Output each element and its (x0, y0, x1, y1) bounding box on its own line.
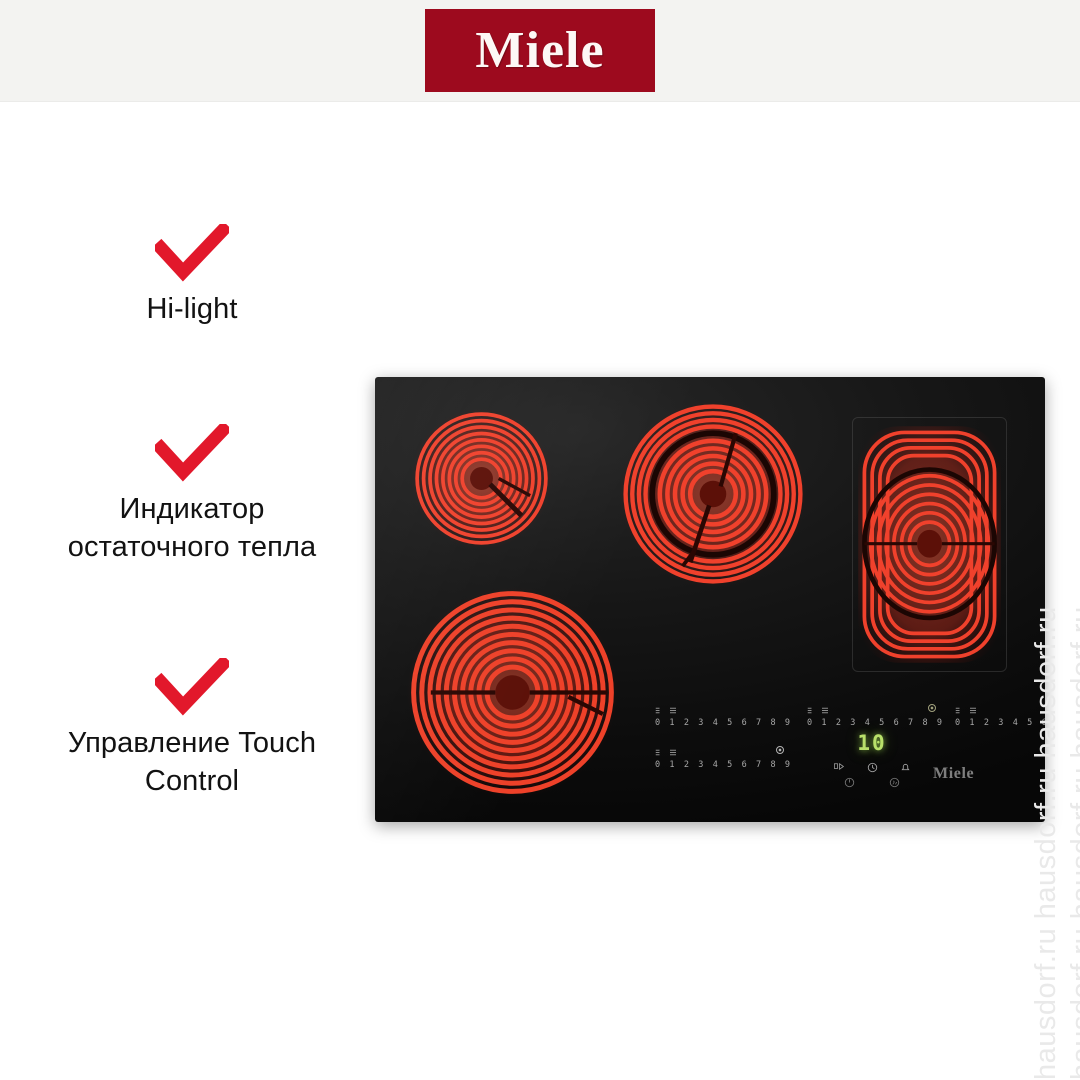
heat-level-icon (968, 706, 978, 715)
slider-icon-group (655, 747, 785, 758)
cooking-zone-top-center[interactable] (618, 399, 808, 589)
miele-logo-text: Miele (475, 25, 604, 77)
check-icon (155, 224, 229, 284)
check-icon-wrap (27, 218, 357, 290)
slider-scale[interactable]: 0 1 2 3 4 5 6 7 8 9 (807, 719, 937, 728)
top-banner: Miele (0, 0, 1080, 102)
stop-and-go-icon[interactable] (834, 762, 845, 771)
alarm-bell-icon[interactable] (900, 762, 911, 773)
zone-indicator-icon (655, 748, 664, 757)
miele-logo: Miele (425, 9, 655, 92)
heat-level-icon (668, 706, 678, 715)
power-icon[interactable] (844, 777, 855, 788)
zone-indicator-icon (655, 706, 664, 715)
slider-icon-group (807, 705, 937, 716)
feature-item-touch-control: Управление Touch Control (27, 652, 357, 801)
booster-icon[interactable] (775, 745, 785, 755)
slider-scale[interactable]: 0 1 2 3 4 5 6 7 8 9 (655, 719, 785, 728)
timer-icon[interactable] (867, 762, 878, 773)
slider-rear-center[interactable]: 0 1 2 3 4 5 6 7 8 9 (807, 705, 937, 728)
slider-scale[interactable]: 0 1 2 3 4 5 6 7 8 9 (655, 761, 785, 770)
display-icon-row (807, 762, 937, 773)
check-icon-wrap (27, 652, 357, 724)
ceramic-cooktop: 0 1 2 3 4 5 6 7 8 9 0 1 2 3 4 5 6 7 8 9 (375, 377, 1045, 822)
slider-scale[interactable]: 0 1 2 3 4 5 6 7 8 9 (955, 719, 1045, 728)
slider-front-left[interactable]: 0 1 2 3 4 5 6 7 8 9 (655, 747, 785, 770)
keep-warm-icon[interactable] (889, 777, 900, 788)
check-icon-wrap (27, 418, 357, 490)
cooking-zone-bottom-left[interactable] (405, 585, 620, 800)
feature-item-hi-light: Hi-light (27, 218, 357, 328)
check-icon (155, 424, 229, 484)
display-value: 10 (807, 733, 937, 754)
feature-label: Hi-light (27, 290, 357, 328)
slider-rear-left[interactable]: 0 1 2 3 4 5 6 7 8 9 (655, 705, 785, 728)
feature-label: Управление Touch Control (27, 724, 357, 801)
heat-level-icon (668, 748, 678, 757)
slider-icon-group (655, 705, 785, 716)
check-icon (155, 658, 229, 718)
secondary-icon-row (807, 777, 937, 788)
touch-control-panel[interactable]: 0 1 2 3 4 5 6 7 8 9 0 1 2 3 4 5 6 7 8 9 (655, 695, 1035, 805)
cooktop-brand-label: Miele (933, 765, 974, 783)
slider-icon-group (955, 705, 1045, 716)
watermark-text: hausdorf.ru hausdorf.ru hausdorf.ru (1066, 606, 1080, 1080)
heating-element-oval (852, 417, 1007, 672)
zone-indicator-icon (807, 706, 816, 715)
heat-level-icon (820, 706, 830, 715)
feature-label: Индикатор остаточного тепла (27, 490, 357, 567)
cooking-zone-right-extension[interactable] (852, 417, 1007, 672)
heating-element-spiral-large (405, 585, 620, 800)
booster-icon[interactable] (927, 703, 937, 713)
digital-display: 10 (807, 733, 937, 773)
heating-element-spiral (410, 407, 553, 550)
zone-indicator-icon (955, 706, 964, 715)
heating-element-dual-spiral (618, 399, 808, 589)
slider-rear-right[interactable]: 0 1 2 3 4 5 6 7 8 9 (955, 705, 1045, 728)
cooking-zone-top-left[interactable] (410, 407, 553, 550)
feature-item-residual-heat: Индикатор остаточного тепла (27, 418, 357, 567)
